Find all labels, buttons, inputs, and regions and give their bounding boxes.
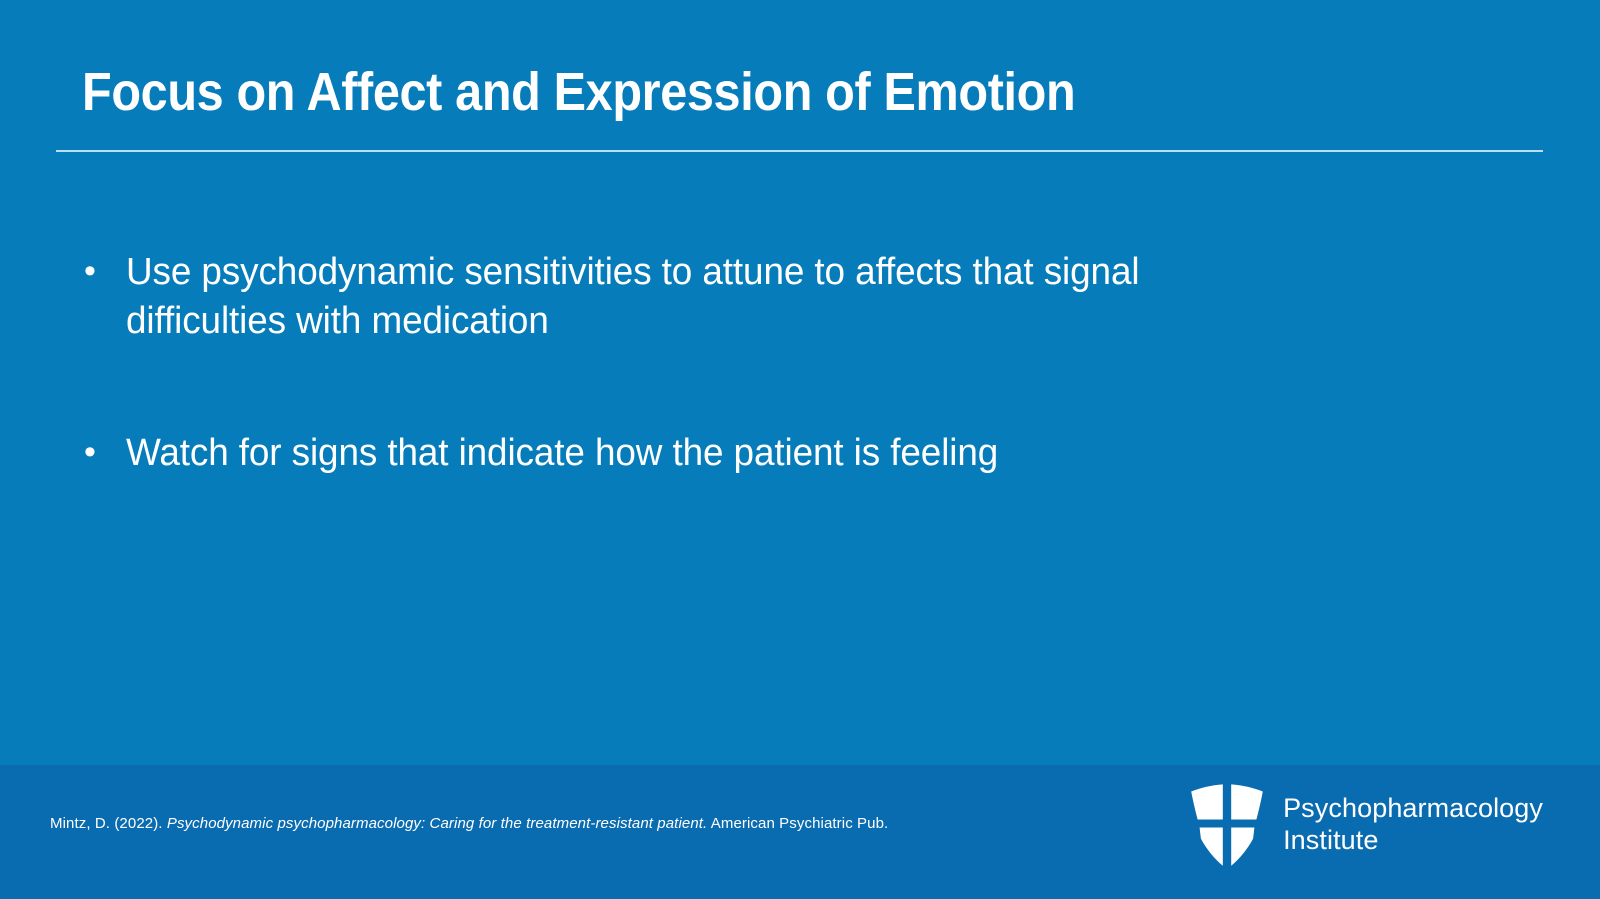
slide-footer: Mintz, D. (2022). Psychodynamic psychoph… <box>0 765 1600 899</box>
citation-author-year: Mintz, D. (2022). <box>50 815 167 832</box>
bullet-line-1: Use psychodynamic sensitivities to attun… <box>126 251 1139 293</box>
shield-quadrant-logo-icon <box>1189 779 1265 871</box>
brand-logo: Psychopharmacology Institute <box>1189 779 1543 871</box>
page-title: Focus on Affect and Expression of Emotio… <box>82 64 1398 121</box>
presentation-slide: Focus on Affect and Expression of Emotio… <box>0 0 1600 899</box>
brand-logo-text: Psychopharmacology Institute <box>1283 793 1543 857</box>
brand-name-line-1: Psychopharmacology <box>1283 793 1543 823</box>
citation-work-title: Psychodynamic psychopharmacology: Caring… <box>167 815 707 832</box>
bullet-list: • Use psychodynamic sensitivities to att… <box>76 248 1496 478</box>
bullet-point-icon: • <box>76 248 126 295</box>
bullet-text: Watch for signs that indicate how the pa… <box>126 429 1455 478</box>
list-item: • Use psychodynamic sensitivities to att… <box>76 248 1496 347</box>
brand-name-line-2: Institute <box>1283 825 1543 857</box>
bullet-line-2: difficulties with medication <box>126 297 1455 346</box>
list-item: • Watch for signs that indicate how the … <box>76 429 1496 478</box>
citation-publisher: American Psychiatric Pub. <box>707 815 888 832</box>
bullet-line-1: Watch for signs that indicate how the pa… <box>126 432 998 474</box>
title-block: Focus on Affect and Expression of Emotio… <box>82 64 1544 121</box>
title-divider-rule <box>56 150 1543 152</box>
bullet-point-icon: • <box>76 429 126 476</box>
citation-reference: Mintz, D. (2022). Psychodynamic psychoph… <box>50 815 888 834</box>
bullet-text: Use psychodynamic sensitivities to attun… <box>126 248 1455 347</box>
